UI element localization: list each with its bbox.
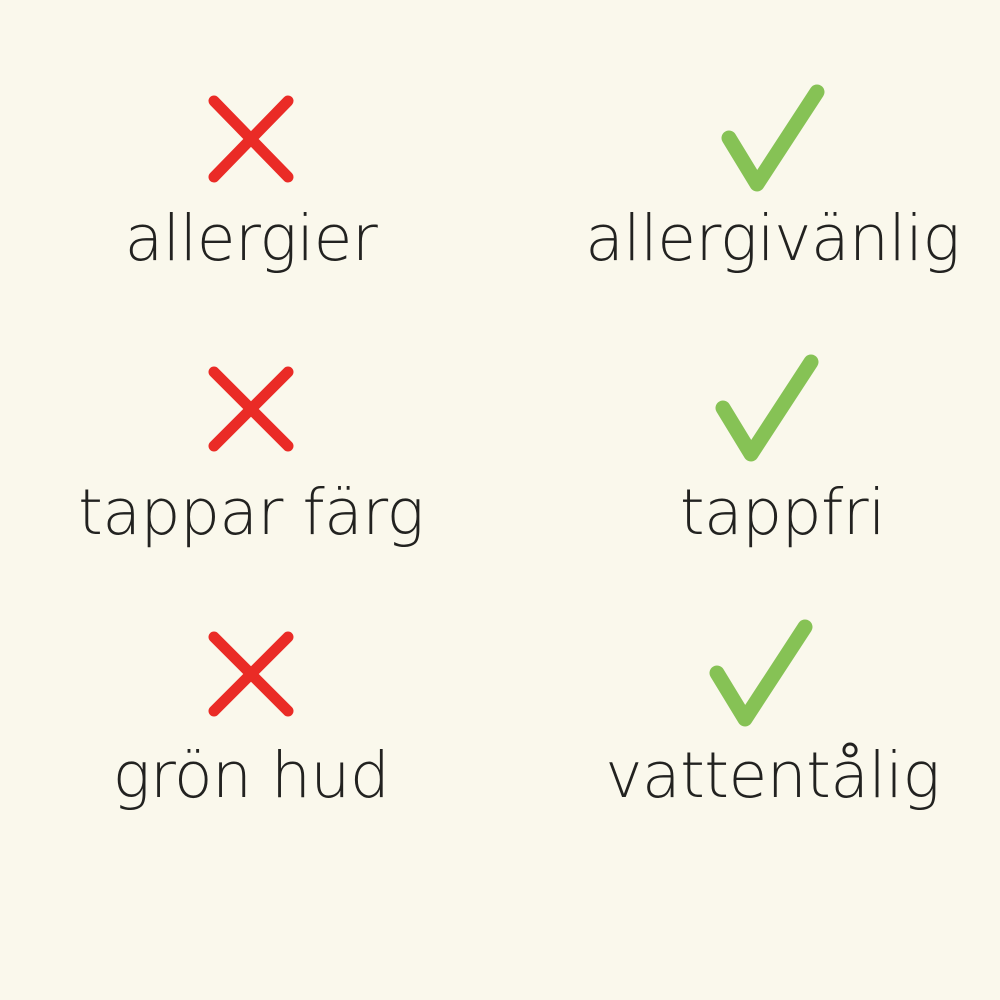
comparison-cell-negative: grön hud: [0, 615, 500, 855]
check-mark-icon: [713, 80, 833, 198]
feature-label-positive: vattentålig: [605, 743, 940, 809]
feature-label-positive: allergivänlig: [585, 206, 960, 272]
feature-label-negative: allergier: [125, 206, 378, 272]
comparison-row: grön hud vattentålig: [0, 615, 1000, 855]
check-mark-icon: [707, 350, 827, 468]
comparison-cell-negative: allergier: [0, 80, 500, 320]
feature-label-negative: tappar färg: [78, 480, 424, 546]
feature-label-negative: grön hud: [113, 743, 390, 809]
comparison-cell-positive: vattentålig: [500, 615, 1000, 855]
comparison-row: tappar färg tappfri: [0, 350, 1000, 590]
cross-mark-icon: [191, 615, 311, 733]
comparison-cell-positive: tappfri: [500, 350, 1000, 590]
comparison-cell-negative: tappar färg: [0, 350, 500, 590]
comparison-cell-positive: allergivänlig: [500, 80, 1000, 320]
cross-mark-icon: [191, 350, 311, 468]
comparison-row: allergier allergivänlig: [0, 80, 1000, 320]
comparison-board: allergier allergivänlig tappar färg: [0, 0, 1000, 1000]
feature-label-positive: tappfri: [680, 480, 885, 546]
check-mark-icon: [701, 615, 821, 733]
cross-mark-icon: [191, 80, 311, 198]
